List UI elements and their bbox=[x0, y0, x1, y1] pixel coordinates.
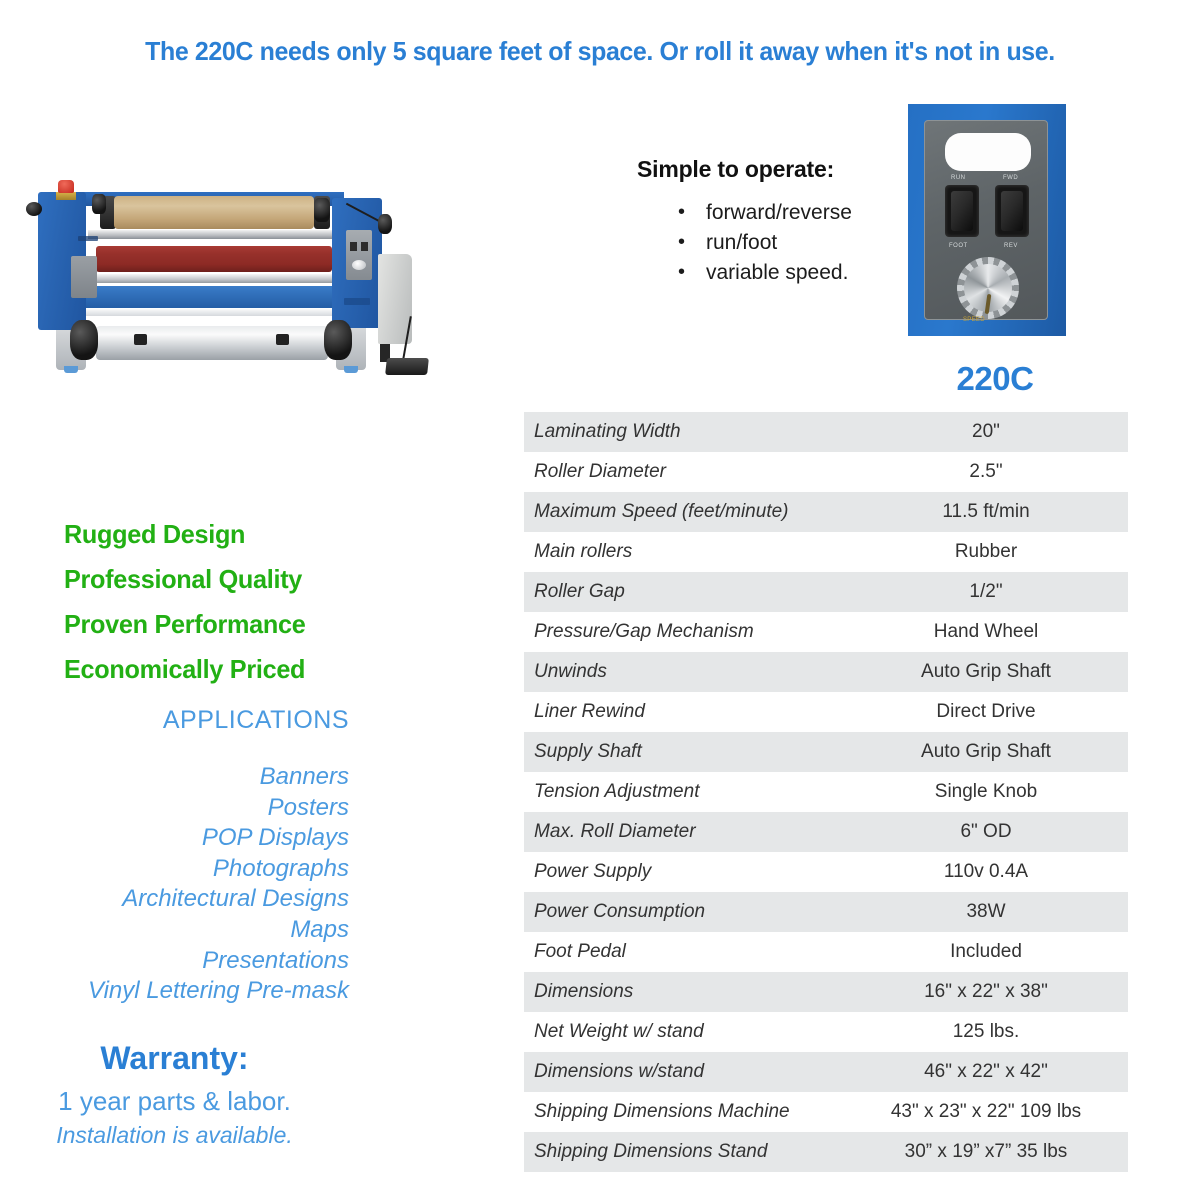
switch-label-fwd: FWD bbox=[1003, 175, 1018, 181]
machine-nameplate bbox=[344, 298, 370, 305]
table-row: Power Consumption38W bbox=[524, 892, 1128, 932]
warranty-installation-note: Installation is available. bbox=[0, 1122, 349, 1149]
spec-label: Tension Adjustment bbox=[524, 772, 854, 812]
speed-knob-pointer bbox=[985, 294, 992, 314]
list-item: Vinyl Lettering Pre-mask bbox=[0, 976, 349, 1007]
warranty-terms: 1 year parts & labor. bbox=[0, 1086, 349, 1117]
spec-value: 2.5" bbox=[854, 452, 1128, 492]
spec-value: 30” x 19” x7” 35 lbs bbox=[854, 1132, 1128, 1172]
control-panel-on-machine bbox=[346, 230, 372, 280]
table-row: Main rollersRubber bbox=[524, 532, 1128, 572]
spec-value: 1/2" bbox=[854, 572, 1128, 612]
switch-label-run: RUN bbox=[951, 175, 966, 181]
tagline: Rugged Design bbox=[64, 512, 305, 557]
simple-to-operate-list: forward/reverse run/foot variable speed. bbox=[672, 198, 852, 288]
spec-label: Power Supply bbox=[524, 852, 854, 892]
table-row: Laminating Width20" bbox=[524, 412, 1128, 452]
spec-label: Dimensions w/stand bbox=[524, 1052, 854, 1092]
simple-to-operate-title: Simple to operate: bbox=[637, 156, 834, 183]
spec-value: 11.5 ft/min bbox=[854, 492, 1128, 532]
rocker-switch-run-foot bbox=[945, 185, 979, 237]
list-item: Photographs bbox=[0, 854, 349, 885]
page-headline: The 220C needs only 5 square feet of spa… bbox=[24, 36, 1176, 67]
table-row: Net Weight w/ stand125 lbs. bbox=[524, 1012, 1128, 1052]
switch-label-foot: FOOT bbox=[949, 243, 968, 249]
list-item: Architectural Designs bbox=[0, 884, 349, 915]
control-panel-face: RUN FWD FOOT REV SPEED bbox=[924, 120, 1048, 320]
blue-feed-deck bbox=[86, 286, 340, 310]
spec-label: Laminating Width bbox=[524, 412, 854, 452]
spec-value: Rubber bbox=[854, 532, 1128, 572]
speed-knob bbox=[964, 264, 1012, 312]
spec-value: Single Knob bbox=[854, 772, 1128, 812]
machine-switch-1 bbox=[350, 242, 357, 251]
switch-label-rev: REV bbox=[1004, 243, 1018, 249]
table-row: Foot PedalIncluded bbox=[524, 932, 1128, 972]
rocker-switch-fwd-rev bbox=[995, 185, 1029, 237]
spec-value: Direct Drive bbox=[854, 692, 1128, 732]
spec-label: Liner Rewind bbox=[524, 692, 854, 732]
spec-label: Roller Diameter bbox=[524, 452, 854, 492]
table-row: UnwindsAuto Grip Shaft bbox=[524, 652, 1128, 692]
specifications-table: Laminating Width20"Roller Diameter2.5"Ma… bbox=[524, 412, 1128, 1172]
panel-display bbox=[945, 133, 1031, 171]
spec-label: Roller Gap bbox=[524, 572, 854, 612]
table-row: Maximum Speed (feet/minute)11.5 ft/min bbox=[524, 492, 1128, 532]
spec-label: Unwinds bbox=[524, 652, 854, 692]
spec-label: Power Consumption bbox=[524, 892, 854, 932]
caster-left bbox=[64, 366, 78, 373]
list-item: run/foot bbox=[672, 228, 852, 258]
machine-logo-badge bbox=[78, 236, 98, 241]
spec-value: Auto Grip Shaft bbox=[854, 732, 1128, 772]
table-row: Supply ShaftAuto Grip Shaft bbox=[524, 732, 1128, 772]
spec-value: 20" bbox=[854, 412, 1128, 452]
spec-value: Included bbox=[854, 932, 1128, 972]
kraft-paper-roll bbox=[114, 196, 314, 229]
spec-value: 125 lbs. bbox=[854, 1012, 1128, 1052]
speed-knob-bezel bbox=[957, 257, 1019, 319]
spec-label: Shipping Dimensions Stand bbox=[524, 1132, 854, 1172]
shaft-knob-right bbox=[324, 320, 352, 360]
table-row: Shipping Dimensions Stand30” x 19” x7” 3… bbox=[524, 1132, 1128, 1172]
tagline: Professional Quality bbox=[64, 557, 305, 602]
spec-value: Hand Wheel bbox=[854, 612, 1128, 652]
spec-value: 46" x 22" x 42" bbox=[854, 1052, 1128, 1092]
list-item: variable speed. bbox=[672, 258, 852, 288]
shaft-knob-left bbox=[70, 320, 98, 360]
list-item: Presentations bbox=[0, 946, 349, 977]
emergency-stop-base bbox=[56, 192, 76, 200]
side-access-panel bbox=[71, 256, 97, 298]
specifications-table-body: Laminating Width20"Roller Diameter2.5"Ma… bbox=[524, 412, 1128, 1172]
tagline: Economically Priced bbox=[64, 647, 305, 692]
warranty-title: Warranty: bbox=[0, 1040, 349, 1077]
shaft-clip-right bbox=[276, 334, 289, 345]
applications-list: Banners Posters POP Displays Photographs… bbox=[0, 762, 349, 1007]
list-item: Banners bbox=[0, 762, 349, 793]
control-panel-photo: RUN FWD FOOT REV SPEED bbox=[908, 104, 1066, 336]
tagline-group: Rugged Design Professional Quality Prove… bbox=[64, 512, 313, 692]
spec-label: Main rollers bbox=[524, 532, 854, 572]
table-row: Dimensions w/stand46" x 22" x 42" bbox=[524, 1052, 1128, 1092]
tension-knob-right bbox=[378, 214, 392, 234]
spec-value: 38W bbox=[854, 892, 1128, 932]
table-row: Max. Roll Diameter6" OD bbox=[524, 812, 1128, 852]
tension-knob-left bbox=[26, 202, 42, 216]
roll-end-knob-right bbox=[314, 198, 330, 222]
spec-label: Maximum Speed (feet/minute) bbox=[524, 492, 854, 532]
spec-value: Auto Grip Shaft bbox=[854, 652, 1128, 692]
table-row: Power Supply110v 0.4A bbox=[524, 852, 1128, 892]
speed-knob-caption: SPEED bbox=[963, 317, 985, 323]
red-main-roller bbox=[96, 246, 332, 272]
table-row: Liner RewindDirect Drive bbox=[524, 692, 1128, 732]
table-row: Pressure/Gap MechanismHand Wheel bbox=[524, 612, 1128, 652]
spec-value: 16" x 22" x 38" bbox=[854, 972, 1128, 1012]
spec-label: Foot Pedal bbox=[524, 932, 854, 972]
list-item: forward/reverse bbox=[672, 198, 852, 228]
list-item: Posters bbox=[0, 793, 349, 824]
spec-label: Pressure/Gap Mechanism bbox=[524, 612, 854, 652]
spec-label: Dimensions bbox=[524, 972, 854, 1012]
silver-supply-shaft bbox=[96, 326, 328, 360]
roll-end-knob-left bbox=[92, 194, 106, 214]
spec-value: 110v 0.4A bbox=[854, 852, 1128, 892]
upper-silver-bar bbox=[88, 230, 338, 239]
emergency-stop-button-icon bbox=[58, 180, 74, 193]
spec-label: Shipping Dimensions Machine bbox=[524, 1092, 854, 1132]
spec-label: Net Weight w/ stand bbox=[524, 1012, 854, 1052]
lower-silver-bar bbox=[88, 274, 340, 283]
table-row: Roller Diameter2.5" bbox=[524, 452, 1128, 492]
table-row: Dimensions16" x 22" x 38" bbox=[524, 972, 1128, 1012]
machine-housing-left bbox=[38, 192, 86, 330]
table-row: Roller Gap1/2" bbox=[524, 572, 1128, 612]
caster-right bbox=[344, 366, 358, 373]
model-name: 220C bbox=[890, 360, 1100, 398]
white-feed-strip bbox=[80, 308, 346, 316]
table-row: Tension AdjustmentSingle Knob bbox=[524, 772, 1128, 812]
shaft-clip-left bbox=[134, 334, 147, 345]
list-item: Maps bbox=[0, 915, 349, 946]
spec-value: 43" x 23" x 22" 109 lbs bbox=[854, 1092, 1128, 1132]
tagline: Proven Performance bbox=[64, 602, 305, 647]
table-row: Shipping Dimensions Machine43" x 23" x 2… bbox=[524, 1092, 1128, 1132]
spec-label: Max. Roll Diameter bbox=[524, 812, 854, 852]
spec-label: Supply Shaft bbox=[524, 732, 854, 772]
applications-title: APPLICATIONS bbox=[0, 706, 349, 735]
machine-speed-knob bbox=[352, 260, 366, 270]
list-item: POP Displays bbox=[0, 823, 349, 854]
applications-title-text: APPLICATIONS bbox=[163, 706, 349, 735]
foot-pedal bbox=[385, 358, 429, 375]
spec-value: 6" OD bbox=[854, 812, 1128, 852]
machine-switch-2 bbox=[361, 242, 368, 251]
220c-laminator-photo bbox=[14, 168, 434, 390]
